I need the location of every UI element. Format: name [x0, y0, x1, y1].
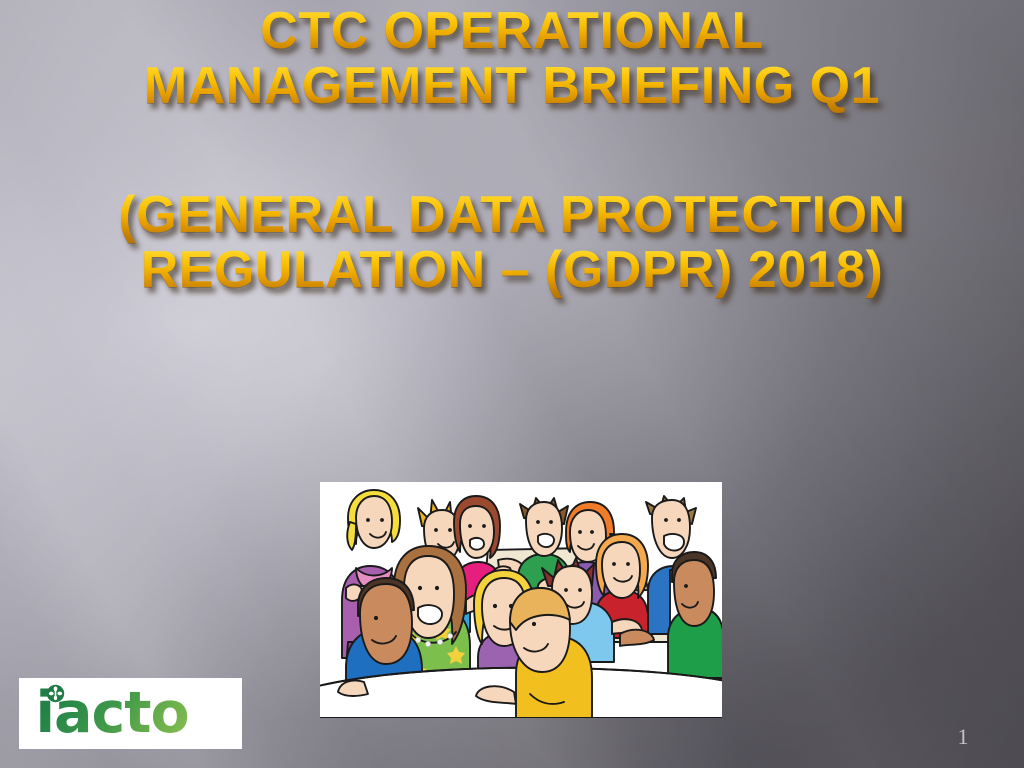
presentation-slide: CTC OPERATIONAL MANAGEMENT BRIEFING Q1 (… [0, 0, 1024, 768]
logo-inner: iacto [36, 685, 226, 743]
page-number: 1 [958, 724, 970, 750]
iacto-logo: iacto [19, 678, 242, 749]
slide-title: CTC OPERATIONAL MANAGEMENT BRIEFING Q1 (… [58, 4, 966, 298]
title-spacer [58, 114, 966, 188]
shamrock-icon [46, 684, 65, 703]
title-line-2: MANAGEMENT BRIEFING Q1 [58, 59, 966, 114]
meeting-group-clipart: .ol { stroke:#1a1a1a; stroke-width:1.9; … [320, 482, 722, 718]
title-line-4: REGULATION – (GDPR) 2018) [58, 243, 966, 298]
title-line-1: CTC OPERATIONAL [58, 4, 966, 59]
title-line-3: (GENERAL DATA PROTECTION [58, 188, 966, 243]
